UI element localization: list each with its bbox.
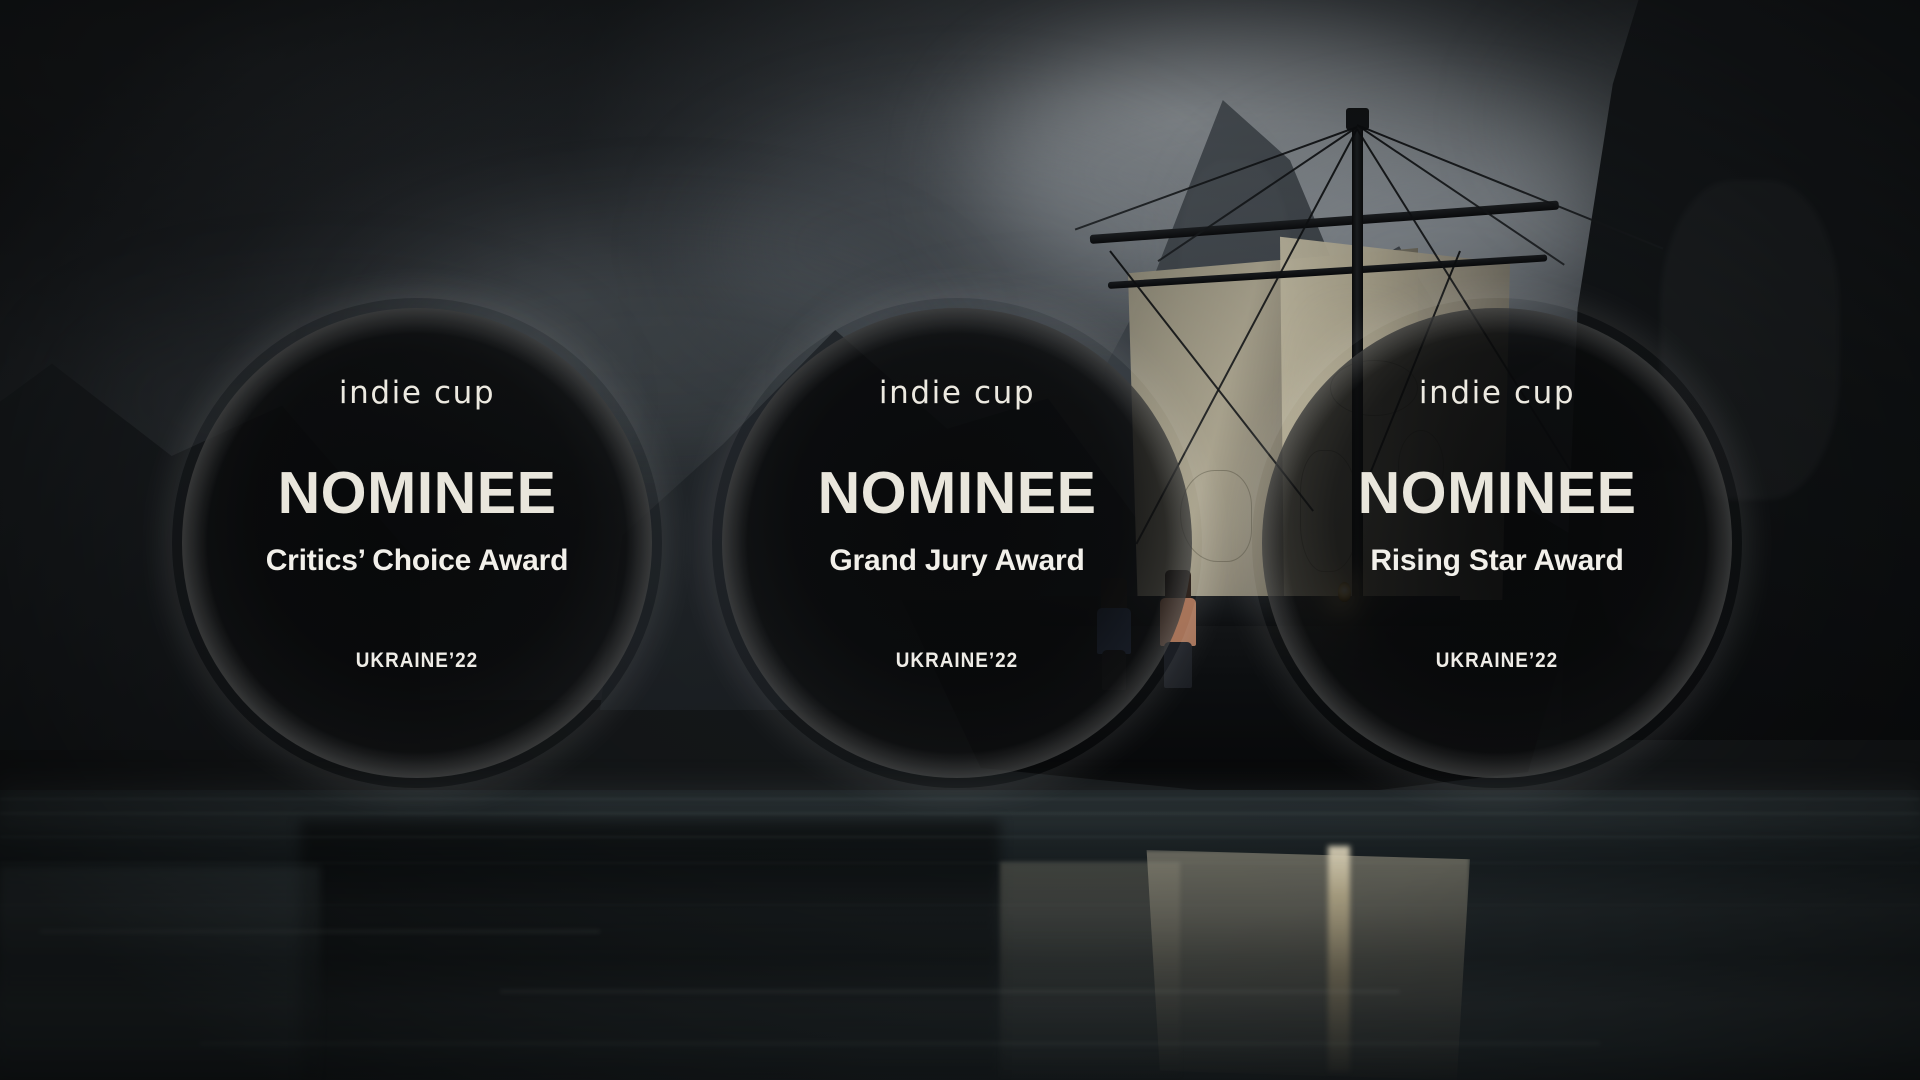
badge-content: indie cup NOMINEE Critics’ Choice Award … xyxy=(182,308,652,778)
award-badge-critics-choice[interactable]: indie cup NOMINEE Critics’ Choice Award … xyxy=(182,308,652,778)
badge-content: indie cup NOMINEE Rising Star Award UKRA… xyxy=(1262,308,1732,778)
indie-cup-logo: indie cup xyxy=(1419,378,1575,409)
award-title: Critics’ Choice Award xyxy=(266,545,569,577)
award-badge-rising-star[interactable]: indie cup NOMINEE Rising Star Award UKRA… xyxy=(1262,308,1732,778)
award-badge-grand-jury[interactable]: indie cup NOMINEE Grand Jury Award UKRAI… xyxy=(722,308,1192,778)
edition-label: UKRAINE’22 xyxy=(896,649,1018,673)
badge-content: indie cup NOMINEE Grand Jury Award UKRAI… xyxy=(722,308,1192,778)
edition-label: UKRAINE’22 xyxy=(356,649,478,673)
award-badge-group: indie cup NOMINEE Critics’ Choice Award … xyxy=(0,0,1920,1080)
indie-cup-logo: indie cup xyxy=(879,378,1035,409)
nominee-label: NOMINEE xyxy=(818,464,1097,523)
edition-label: UKRAINE’22 xyxy=(1436,649,1558,673)
screenshot-root: indie cup NOMINEE Critics’ Choice Award … xyxy=(0,0,1920,1080)
award-title: Rising Star Award xyxy=(1370,545,1623,577)
indie-cup-logo: indie cup xyxy=(339,378,495,409)
nominee-label: NOMINEE xyxy=(1358,464,1637,523)
nominee-label: NOMINEE xyxy=(278,464,557,523)
award-title: Grand Jury Award xyxy=(829,545,1084,577)
